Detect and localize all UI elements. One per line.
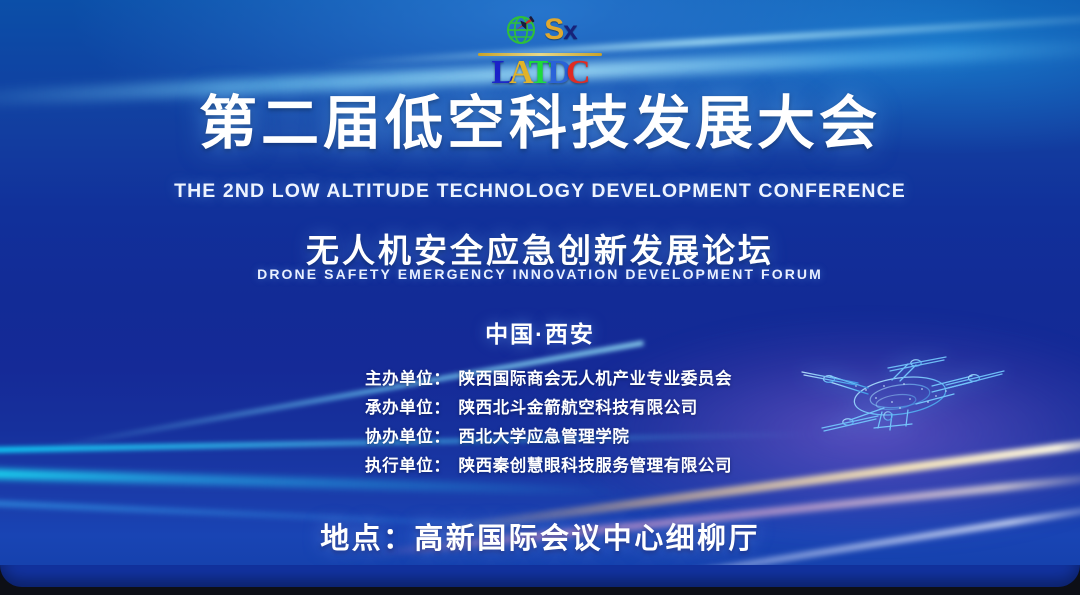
organizer-value: 陕西国际商会无人机产业专业委员会 (459, 365, 733, 389)
organizer-row-coorganizer: 协办单位： 西北大学应急管理学院 (365, 423, 715, 447)
poster-content: 第二届低空科技发展大会 THE 2ND LOW ALTITUDE TECHNOL… (0, 0, 1080, 595)
organizer-label: 主办单位： (365, 365, 451, 389)
forum-subtitle-english: DRONE SAFETY EMERGENCY INNOVATION DEVELO… (0, 266, 1080, 282)
organizer-list: 主办单位： 陕西国际商会无人机产业专业委员会 承办单位： 陕西北斗金箭航空科技有… (0, 365, 1080, 476)
venue-line: 地点：高新国际会议中心细柳厅 (0, 515, 1080, 557)
organizer-value: 西北大学应急管理学院 (459, 423, 630, 447)
organizer-row-executor: 执行单位： 陕西秦创慧眼科技服务管理有限公司 (365, 452, 715, 476)
organizer-value: 陕西秦创慧眼科技服务管理有限公司 (459, 452, 733, 476)
organizer-label: 执行单位： (365, 452, 451, 476)
organizer-label: 协办单位： (365, 423, 451, 447)
organizer-row-host: 主办单位： 陕西国际商会无人机产业专业委员会 (365, 365, 715, 389)
organizer-row-undertaker: 承办单位： 陕西北斗金箭航空科技有限公司 (365, 394, 715, 418)
conference-title-english: THE 2ND LOW ALTITUDE TECHNOLOGY DEVELOPM… (0, 180, 1080, 203)
organizer-value: 陕西北斗金箭航空科技有限公司 (459, 394, 698, 418)
conference-poster: Sx L A T D C 第二届低空科技发展大会 THE 2ND LOW ALT… (0, 0, 1080, 595)
conference-title-chinese: 第二届低空科技发展大会 (0, 93, 1080, 156)
location-city: 中国·西安 (0, 315, 1080, 349)
forum-subtitle-chinese: 无人机安全应急创新发展论坛 (0, 224, 1080, 272)
organizer-label: 承办单位： (365, 394, 451, 418)
